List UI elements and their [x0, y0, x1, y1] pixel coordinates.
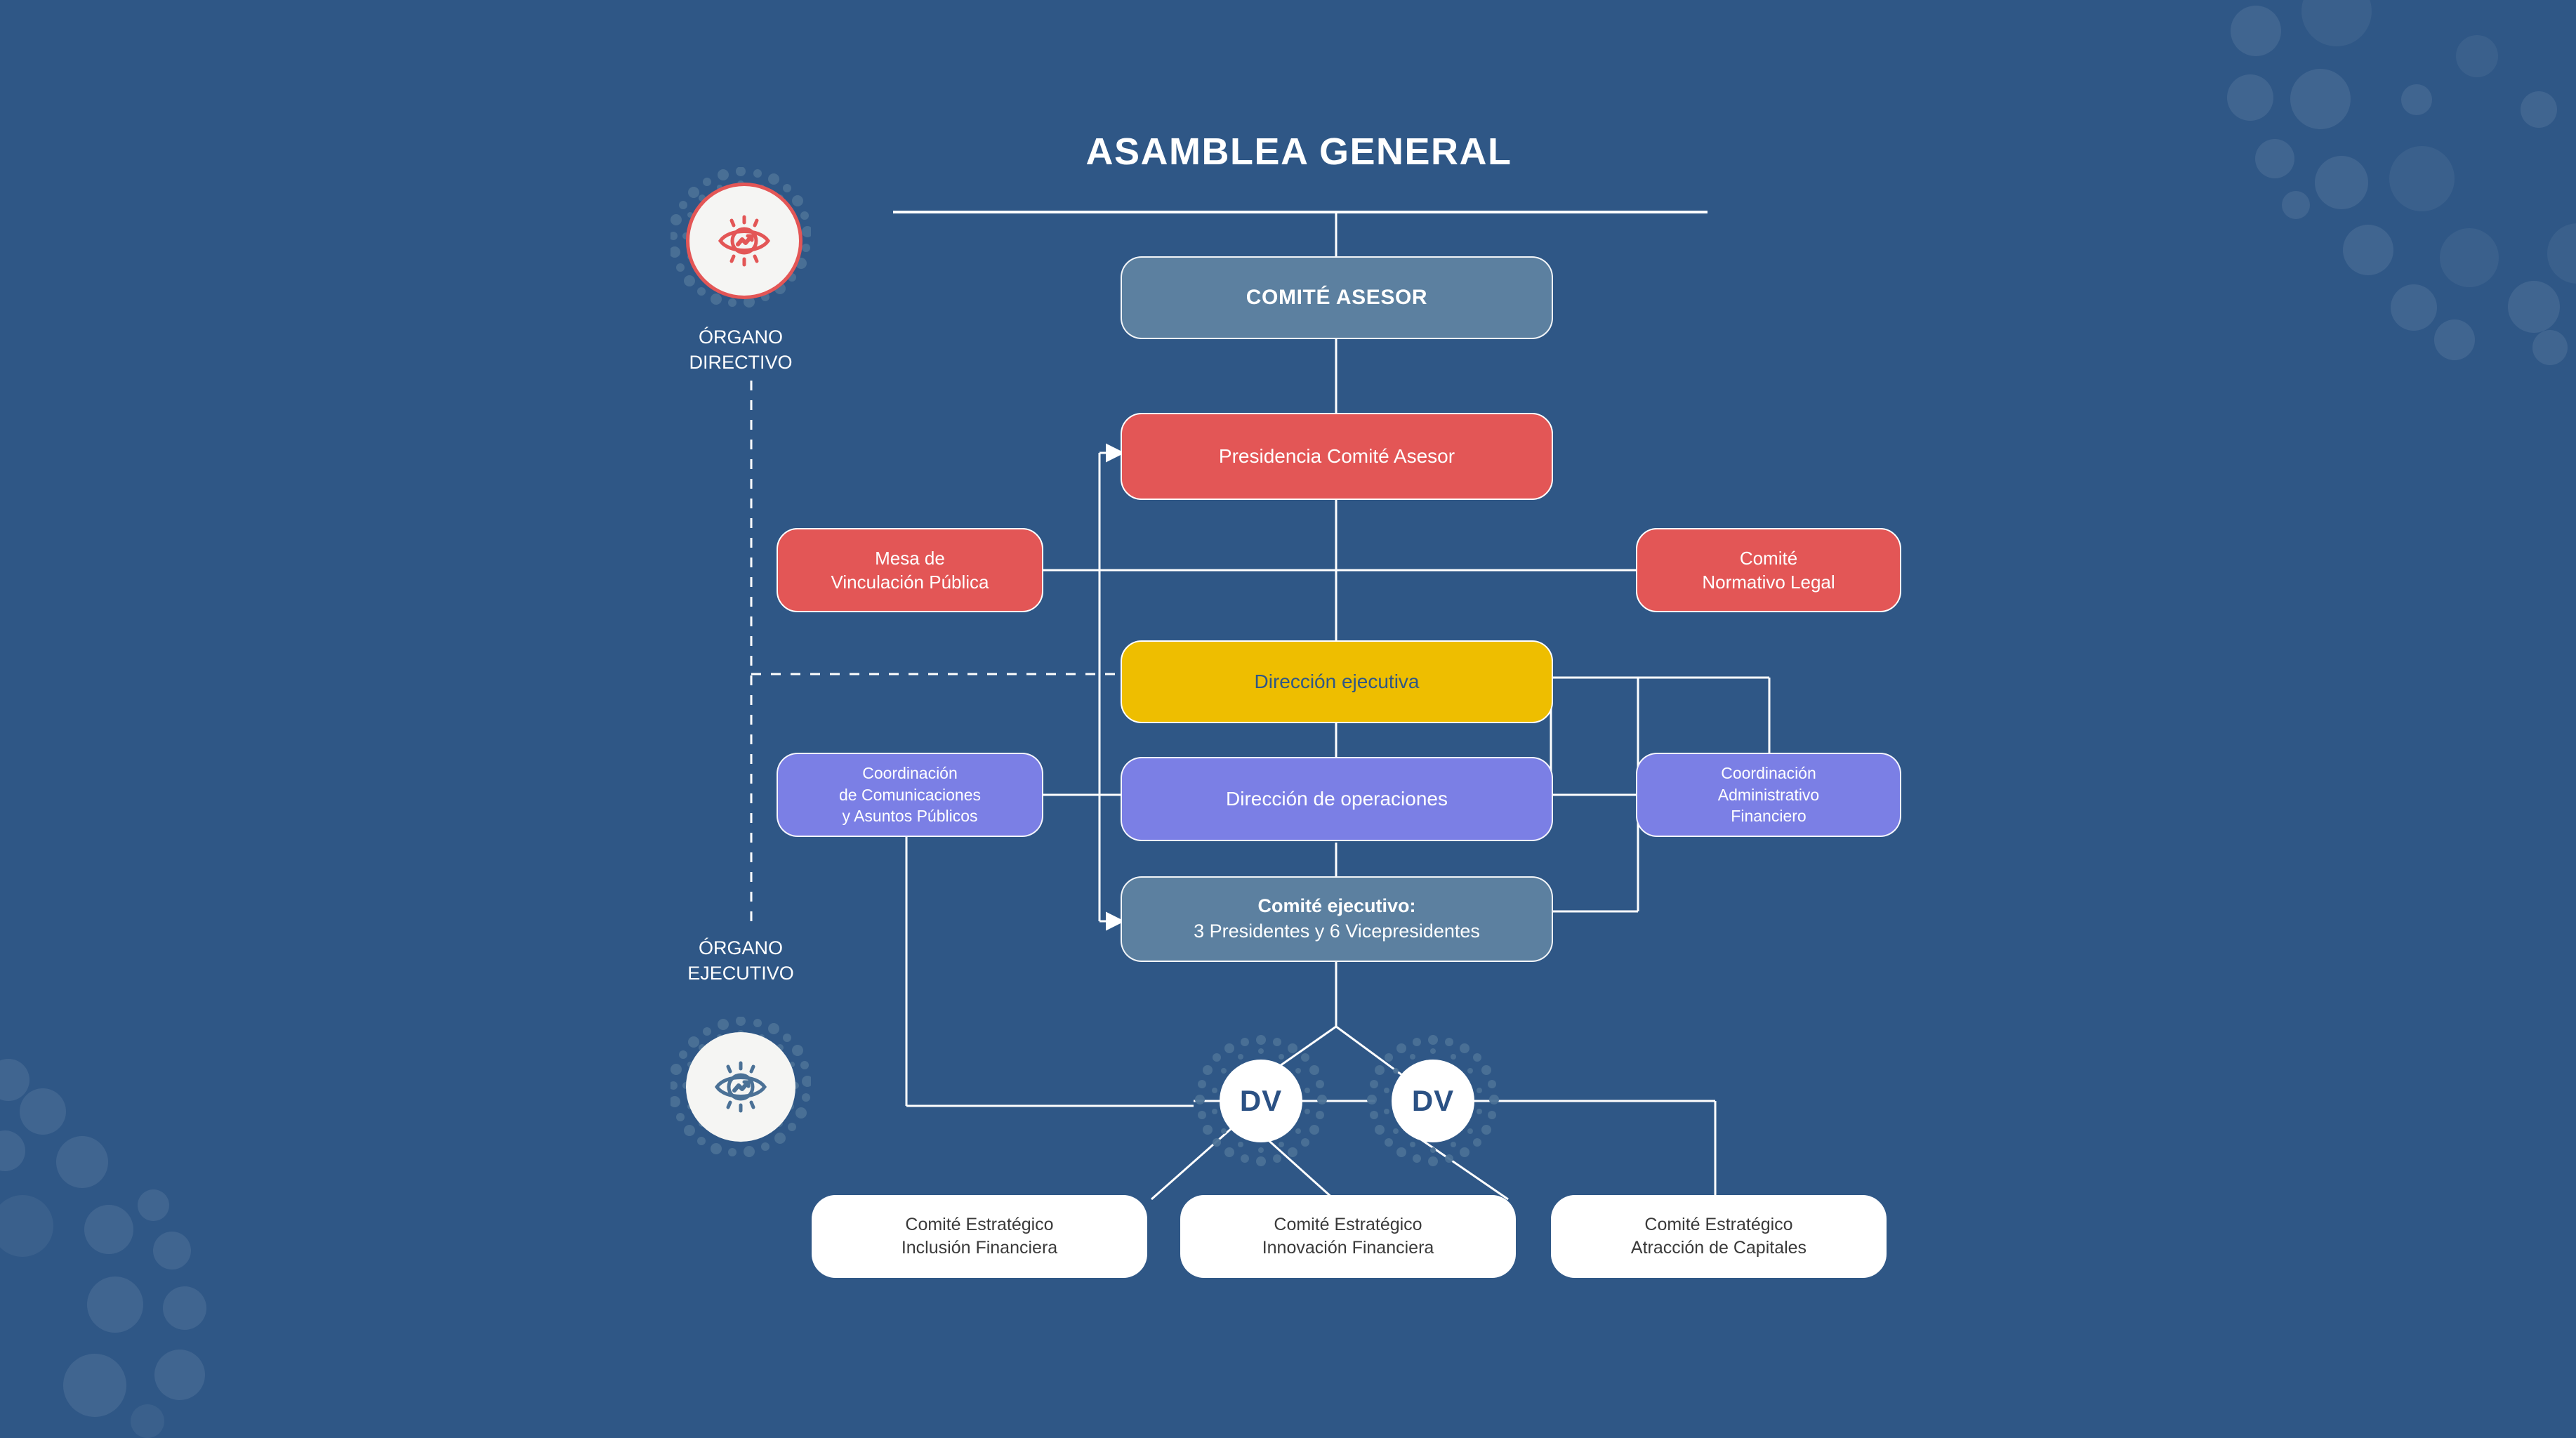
decorative-bubble — [87, 1277, 143, 1333]
decorative-bubble — [2532, 330, 2568, 365]
node-mesa-vinculacion-publica[interactable]: Mesa de Vinculación Pública — [777, 528, 1043, 612]
decorative-bubble — [0, 1195, 53, 1257]
organo-directivo-label: ÓRGANO DIRECTIVO — [649, 324, 832, 375]
decorative-bubble — [2440, 228, 2499, 287]
title-divider — [893, 211, 1708, 213]
decorative-bubble — [63, 1354, 126, 1417]
node-coordinacion-comunicaciones[interactable]: Coordinación de Comunicaciones y Asuntos… — [777, 753, 1043, 837]
decorative-bubble — [20, 1088, 66, 1135]
organo-ejecutivo-disc — [686, 1032, 795, 1142]
node-comite-estrategico-atraccion[interactable]: Comité Estratégico Atracción de Capitale… — [1551, 1195, 1887, 1278]
decorative-bubble — [2391, 284, 2437, 331]
node-coord-com-line2: de Comunicaciones — [839, 786, 981, 804]
decorative-bubble — [138, 1189, 169, 1221]
decorative-bubble — [84, 1205, 133, 1254]
node-comite-ejecutivo-line1: Comité ejecutivo: — [1257, 895, 1415, 916]
node-mesa-line2: Vinculación Pública — [831, 572, 989, 593]
node-normativo-line2: Normativo Legal — [1702, 572, 1835, 593]
node-mesa-line1: Mesa de — [875, 548, 945, 569]
decorative-bubble — [2456, 35, 2498, 77]
organo-directivo-line2: DIRECTIVO — [689, 352, 792, 373]
decorative-bubble — [2231, 6, 2281, 56]
organo-ejecutivo-badge — [671, 1017, 811, 1157]
node-comite-ejecutivo-line2: 3 Presidentes y 6 Vicepresidentes — [1194, 921, 1480, 942]
decorative-bubble — [154, 1350, 205, 1400]
page-title: ASAMBLEA GENERAL — [885, 130, 1713, 173]
eye-chart-icon — [707, 1053, 774, 1121]
node-direccion-operaciones[interactable]: Dirección de operaciones — [1121, 757, 1553, 841]
dv-right-circle[interactable]: DV — [1392, 1060, 1474, 1142]
node-comite-ejecutivo[interactable]: Comité ejecutivo: 3 Presidentes y 6 Vice… — [1121, 876, 1553, 962]
node-presidencia-comite-asesor[interactable]: Presidencia Comité Asesor — [1121, 413, 1553, 500]
node-normativo-line1: Comité — [1740, 548, 1797, 569]
organo-ejecutivo-label: ÓRGANO EJECUTIVO — [649, 935, 832, 986]
node-comite-asesor-label: COMITÉ ASESOR — [1132, 284, 1542, 312]
decorative-bubble — [2301, 0, 2372, 46]
eye-chart-icon — [711, 207, 778, 275]
decorative-bubble — [2343, 225, 2393, 275]
node-presidencia-label: Presidencia Comité Asesor — [1132, 444, 1542, 470]
node-atraccion-line2: Atracción de Capitales — [1631, 1238, 1806, 1258]
decorative-bubble — [56, 1136, 108, 1188]
organo-directivo-badge — [671, 167, 811, 308]
node-coord-adm-line2: Administrativo — [1718, 786, 1819, 804]
decorative-bubble — [2389, 146, 2455, 211]
decorative-bubble — [2227, 74, 2273, 121]
node-comite-asesor[interactable]: COMITÉ ASESOR — [1121, 256, 1553, 339]
decorative-bubble — [2508, 281, 2560, 333]
decorative-bubble — [2521, 91, 2557, 128]
org-chart-canvas: ASAMBLEA GENERAL — [0, 0, 2576, 1419]
dv-left-label: DV — [1240, 1084, 1282, 1118]
decorative-bubble — [2401, 84, 2432, 115]
decorative-bubble — [153, 1232, 191, 1269]
decorative-bubble — [2282, 191, 2310, 219]
node-comite-estrategico-innovacion[interactable]: Comité Estratégico Innovación Financiera — [1180, 1195, 1516, 1278]
node-atraccion-line1: Comité Estratégico — [1644, 1215, 1792, 1234]
node-coord-com-line3: y Asuntos Públicos — [842, 807, 977, 825]
node-coordinacion-administrativo-financiero[interactable]: Coordinación Administrativo Financiero — [1636, 753, 1901, 837]
decorative-bubble — [131, 1404, 164, 1438]
dv-right-label: DV — [1412, 1084, 1454, 1118]
node-comite-estrategico-inclusion[interactable]: Comité Estratégico Inclusión Financiera — [812, 1195, 1147, 1278]
organo-directivo-line1: ÓRGANO — [699, 326, 783, 348]
node-coord-adm-line1: Coordinación — [1721, 764, 1816, 782]
decorative-bubble — [2290, 69, 2351, 129]
decorative-bubble — [163, 1286, 206, 1330]
organo-directivo-disc — [686, 183, 802, 299]
node-coord-adm-line3: Financiero — [1731, 807, 1806, 825]
node-innovacion-line1: Comité Estratégico — [1274, 1215, 1422, 1234]
decorative-bubble — [2315, 156, 2368, 209]
node-inclusion-line1: Comité Estratégico — [905, 1215, 1053, 1234]
organo-ejecutivo-line2: EJECUTIVO — [687, 963, 794, 984]
dv-left-circle[interactable]: DV — [1220, 1060, 1302, 1142]
node-comite-normativo-legal[interactable]: Comité Normativo Legal — [1636, 528, 1901, 612]
node-direccion-operaciones-label: Dirección de operaciones — [1132, 786, 1542, 812]
decorative-bubble — [2547, 223, 2576, 284]
decorative-bubble — [0, 1130, 25, 1171]
node-inclusion-line2: Inclusión Financiera — [901, 1238, 1057, 1258]
node-direccion-ejecutiva[interactable]: Dirección ejecutiva — [1121, 640, 1553, 723]
decorative-bubble — [0, 1059, 29, 1101]
decorative-bubble — [2434, 319, 2475, 360]
organo-ejecutivo-line1: ÓRGANO — [699, 937, 783, 958]
node-coord-com-line1: Coordinación — [862, 764, 958, 782]
decorative-bubble — [2255, 139, 2294, 178]
node-innovacion-line2: Innovación Financiera — [1262, 1238, 1434, 1258]
node-direccion-ejecutiva-label: Dirección ejecutiva — [1132, 669, 1542, 695]
